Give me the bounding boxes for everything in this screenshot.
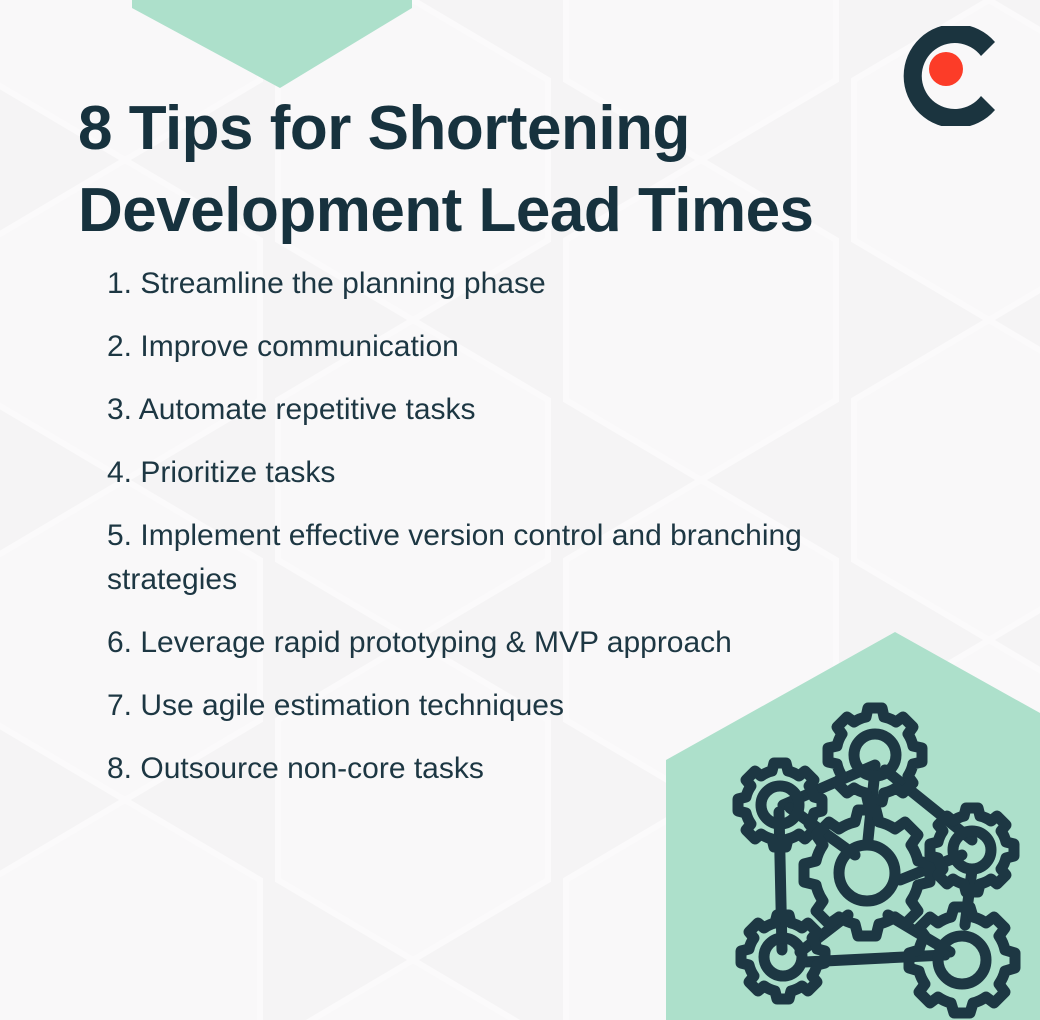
list-item-number: 7.: [107, 689, 132, 722]
list-item: 8. Outsource non-core tasks: [107, 747, 877, 791]
page-title-line-2: Development Lead Times: [78, 170, 878, 252]
list-item: 6. Leverage rapid prototyping & MVP appr…: [107, 621, 877, 665]
list-item-number: 8.: [107, 752, 132, 785]
list-item-text: Prioritize tasks: [140, 456, 335, 489]
page-title: 8 Tips for Shortening Development Lead T…: [78, 88, 878, 252]
list-item-text: Leverage rapid prototyping & MVP approac…: [140, 626, 732, 659]
list-item: 5. Implement effective version control a…: [107, 514, 877, 602]
list-item-text: Improve communication: [140, 330, 458, 363]
list-item-number: 2.: [107, 330, 132, 363]
list-item: 2. Improve communication: [107, 325, 877, 369]
list-item-number: 1.: [107, 267, 132, 300]
list-item: 4. Prioritize tasks: [107, 451, 877, 495]
poster-canvas: 8 Tips for Shortening Development Lead T…: [0, 0, 1040, 1020]
list-item-text: Streamline the planning phase: [140, 267, 545, 300]
list-item: 7. Use agile estimation techniques: [107, 684, 877, 728]
page-title-line-1: 8 Tips for Shortening: [78, 88, 878, 170]
tips-list: 1. Streamline the planning phase 2. Impr…: [107, 262, 877, 791]
list-item-number: 5.: [107, 519, 132, 552]
list-item: 1. Streamline the planning phase: [107, 262, 877, 306]
list-item-number: 4.: [107, 456, 132, 489]
list-item: 3. Automate repetitive tasks: [107, 388, 877, 432]
list-item-text: Implement effective version control and …: [107, 519, 802, 596]
list-item-number: 6.: [107, 626, 132, 659]
list-item-text: Automate repetitive tasks: [139, 393, 476, 426]
list-item-text: Outsource non-core tasks: [140, 752, 484, 785]
poster-content: 8 Tips for Shortening Development Lead T…: [0, 0, 1040, 1020]
list-item-number: 3.: [107, 393, 132, 426]
list-item-text: Use agile estimation techniques: [140, 689, 564, 722]
